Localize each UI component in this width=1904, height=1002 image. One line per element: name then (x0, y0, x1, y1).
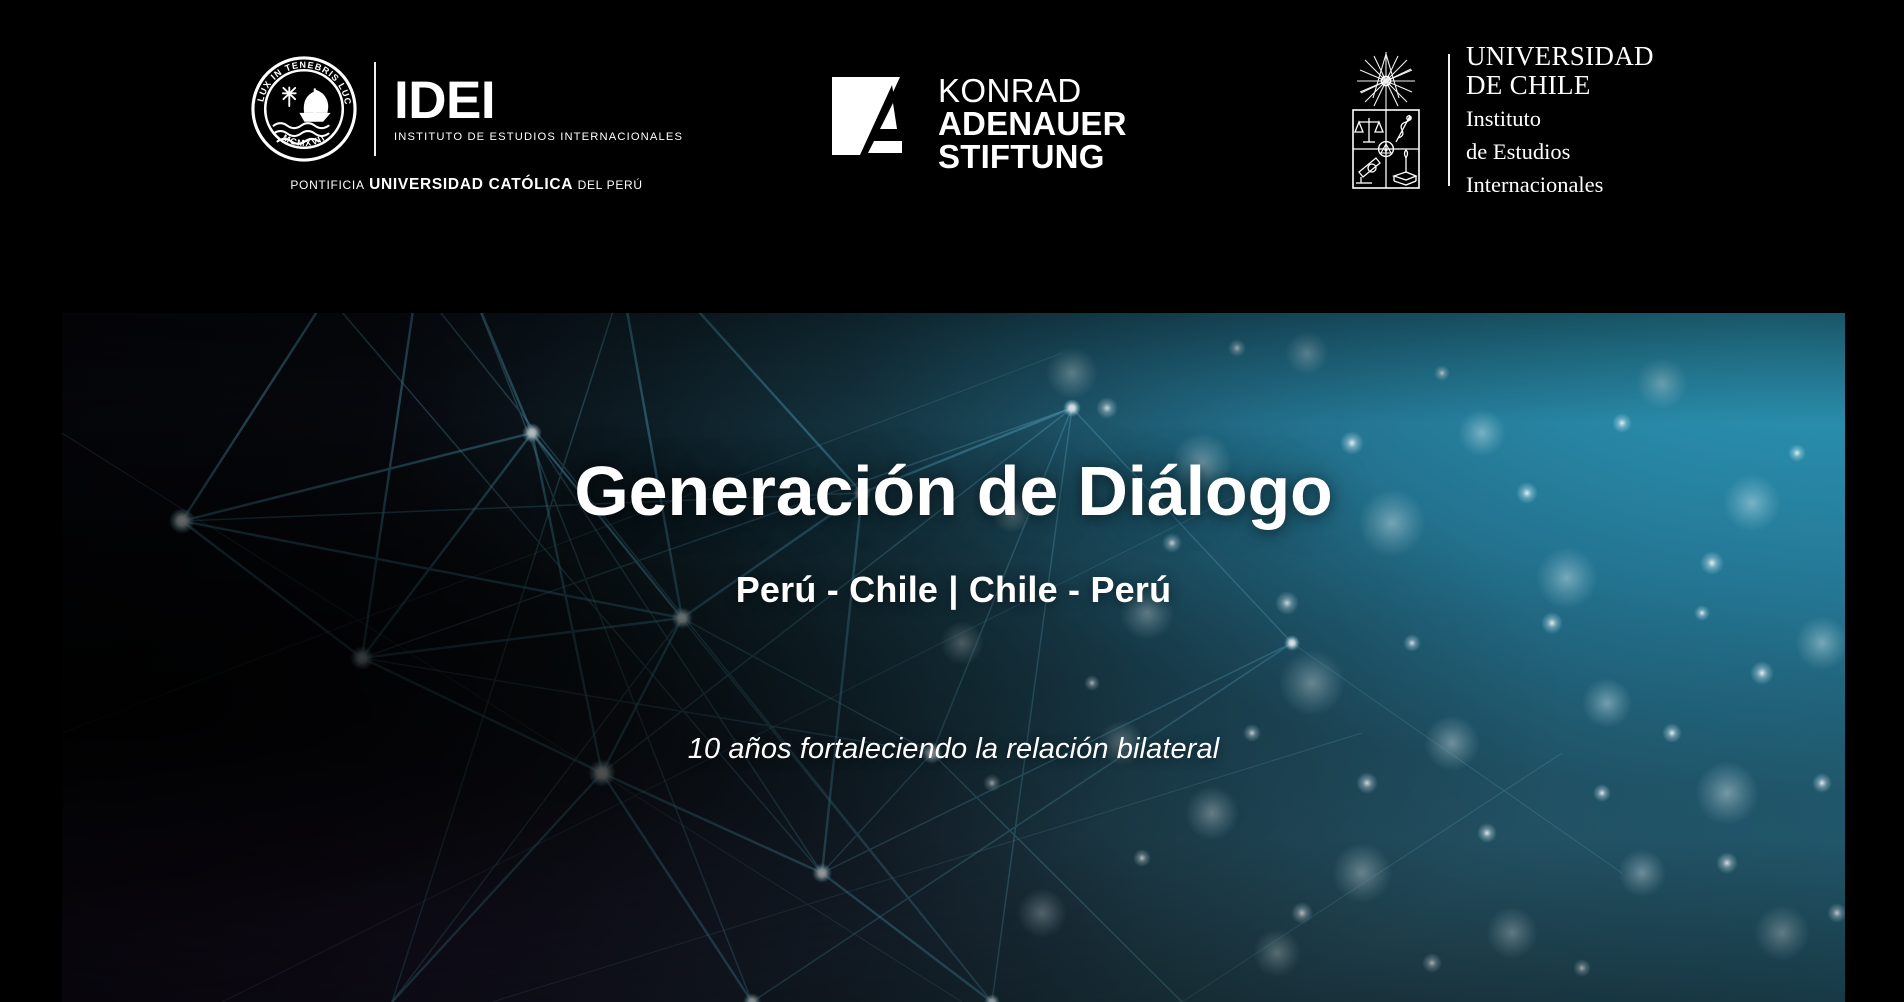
pucp-footer-text: PONTIFICIA UNIVERSIDAD CATÓLICA DEL PERÚ (250, 176, 683, 194)
uch-line-instituto: Instituto (1466, 105, 1654, 133)
uch-line-de-estudios: de Estudios (1466, 138, 1654, 166)
uch-text-block: UNIVERSIDAD DE CHILE Instituto de Estudi… (1466, 42, 1654, 198)
presentation-slide: ET LUX IN TENEBRIS LUCET MCMXVII (0, 0, 1904, 1002)
kas-flag-mark-icon (830, 73, 916, 159)
idei-acronym: IDEI (394, 75, 683, 127)
pucp-seal-icon: ET LUX IN TENEBRIS LUCET MCMXVII (250, 55, 358, 163)
kas-line-konrad: KONRAD (938, 74, 1127, 107)
hero-banner: Generación de Diálogo Perú - Chile | Chi… (62, 313, 1845, 1002)
konrad-adenauer-stiftung-logo: KONRAD ADENAUER STIFTUNG (830, 73, 1127, 173)
uch-line-de-chile: DE CHILE (1466, 71, 1654, 100)
universidad-de-chile-logo: UNIVERSIDAD DE CHILE Instituto de Estudi… (1340, 42, 1654, 198)
kas-line-adenauer: ADENAUER (938, 107, 1127, 140)
pucp-footer-post: DEL PERÚ (578, 178, 643, 192)
kas-text-block: KONRAD ADENAUER STIFTUNG (938, 73, 1127, 173)
hero-vignette (62, 313, 1845, 1002)
uch-shield-star-icon (1340, 50, 1432, 190)
pucp-logo-row: ET LUX IN TENEBRIS LUCET MCMXVII (250, 55, 683, 163)
uch-line-internacionales: Internacionales (1466, 171, 1654, 199)
idei-text-block: IDEI INSTITUTO DE ESTUDIOS INTERNACIONAL… (392, 75, 683, 144)
svg-text:ET LUX IN TENEBRIS LUCET: ET LUX IN TENEBRIS LUCET (250, 55, 353, 106)
logo-header-bar: ET LUX IN TENEBRIS LUCET MCMXVII (0, 0, 1904, 313)
pucp-footer-pre: PONTIFICIA (290, 178, 364, 192)
pucp-divider (374, 62, 376, 156)
pucp-idei-logo: ET LUX IN TENEBRIS LUCET MCMXVII (250, 55, 683, 194)
idei-subtitle: INSTITUTO DE ESTUDIOS INTERNACIONALES (394, 131, 683, 143)
uch-line-universidad: UNIVERSIDAD (1466, 42, 1654, 71)
kas-line-stiftung: STIFTUNG (938, 140, 1127, 173)
pucp-footer-bold: UNIVERSIDAD CATÓLICA (369, 176, 573, 193)
uch-divider (1448, 54, 1450, 186)
